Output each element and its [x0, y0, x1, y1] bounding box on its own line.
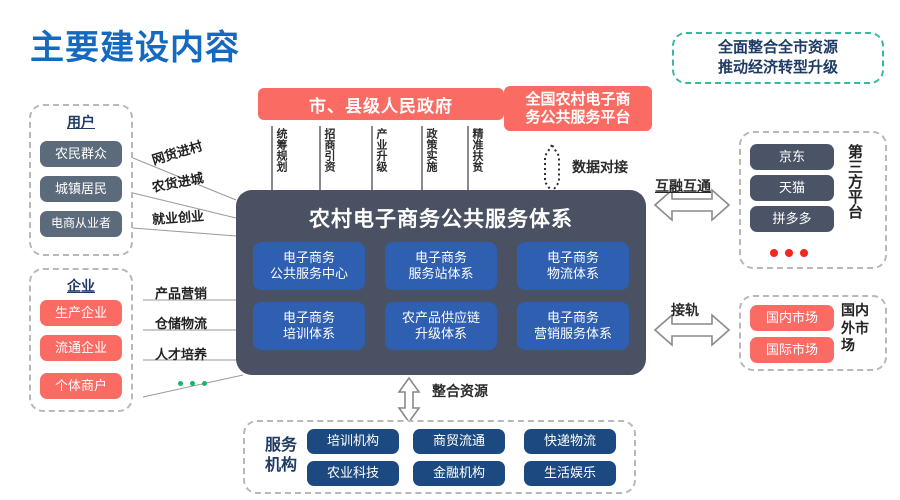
hub-cell-4[interactable]: 农产品供应链 升级体系: [385, 302, 497, 350]
group-users-header: 用户: [29, 112, 133, 132]
hub-title: 农村电子商务公共服务体系: [236, 203, 646, 233]
gov-arrow-label-4: 精准扶贫: [471, 128, 482, 188]
gov-arrow-label-1: 招商引资: [323, 128, 334, 188]
national-platform-banner[interactable]: 全国农村电子商 务公共服务平台: [504, 86, 652, 131]
gov-arrow-label-3: 政策实施: [425, 128, 436, 188]
hub-cell-1[interactable]: 电子商务 服务站体系: [385, 242, 497, 290]
market-item-0[interactable]: 国内市场: [750, 305, 834, 331]
hub-cell-3[interactable]: 电子商务 培训体系: [253, 302, 365, 350]
hub-cell-5[interactable]: 电子商务 营销服务体系: [517, 302, 629, 350]
group-enterprises-header: 企业: [29, 276, 133, 296]
enterprise-item-2[interactable]: 个体商户: [40, 373, 122, 399]
slogan-box: 全面整合全市资源 推动经济转型升级: [672, 32, 884, 84]
service-item-0[interactable]: 培训机构: [307, 429, 399, 454]
service-item-1[interactable]: 商贸流通: [413, 429, 505, 454]
enterprise-ellipsis-dots: [178, 381, 207, 386]
markets-label: 国内 外市 场: [841, 302, 883, 355]
user-connector-label-2: 就业创业: [151, 205, 204, 228]
government-banner[interactable]: 市、县级人民政府: [258, 88, 504, 120]
user-item-0[interactable]: 农民群众: [40, 141, 122, 167]
enterprise-connector-label-1: 仓储物流: [155, 313, 207, 332]
gov-arrow-label-0: 统筹规划: [275, 128, 286, 188]
service-item-5[interactable]: 生活娱乐: [524, 461, 616, 486]
hub-cell-2[interactable]: 电子商务 物流体系: [517, 242, 629, 290]
platform-ellipsis-dots: [770, 249, 808, 257]
enterprise-connector-label-0: 产品营销: [155, 283, 207, 302]
enterprise-item-0[interactable]: 生产企业: [40, 300, 122, 326]
slogan-line-1: 全面整合全市资源: [718, 38, 838, 58]
user-item-2[interactable]: 电商从业者: [40, 211, 122, 237]
platform-item-1[interactable]: 天猫: [750, 175, 834, 201]
market-item-1[interactable]: 国际市场: [750, 337, 834, 363]
page-title: 主要建设内容: [30, 20, 240, 69]
platform-item-0[interactable]: 京东: [750, 144, 834, 170]
slogan-line-2: 推动经济转型升级: [718, 58, 838, 78]
hub-panel: 农村电子商务公共服务体系 电子商务 公共服务中心 电子商务 服务站体系 电子商务…: [236, 190, 646, 375]
label-integrate-resources: 整合资源: [432, 381, 488, 401]
enterprise-connector-label-2: 人才培养: [155, 344, 207, 363]
service-institutions-header: 服务 机构: [253, 436, 309, 476]
service-item-4[interactable]: 金融机构: [413, 461, 505, 486]
third-party-platform-label: 第三方平台: [847, 144, 862, 254]
service-item-3[interactable]: 农业科技: [307, 461, 399, 486]
enterprise-item-1[interactable]: 流通企业: [40, 335, 122, 361]
hub-cell-0[interactable]: 电子商务 公共服务中心: [253, 242, 365, 290]
service-item-2[interactable]: 快递物流: [524, 429, 616, 454]
gov-arrow-label-2: 产业升级: [375, 128, 386, 188]
user-connector-label-0: 网货进村: [149, 135, 204, 168]
slide-canvas: 主要建设内容 全面整合全市资源 推动经济转型升级 市、县级人民政府 全国农村电子…: [0, 0, 900, 500]
user-item-1[interactable]: 城镇居民: [40, 176, 122, 202]
platform-item-2[interactable]: 拼多多: [750, 206, 834, 232]
label-data-docking: 数据对接: [572, 157, 628, 177]
user-connector-label-1: 农货进城: [150, 167, 205, 196]
label-interconnect: 互融互通: [655, 176, 711, 196]
label-rail-link: 接轨: [671, 300, 699, 320]
